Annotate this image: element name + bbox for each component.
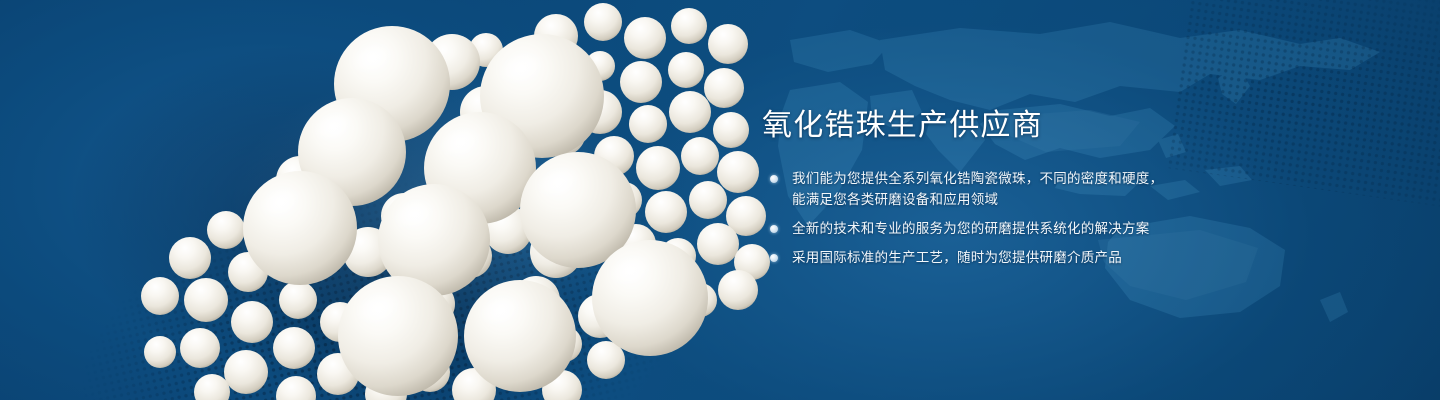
list-item: 我们能为您提供全系列氧化锆陶瓷微珠，不同的密度和硬度， 能满足您各类研磨设备和应… (764, 168, 1234, 210)
list-item-line-1: 我们能为您提供全系列氧化锆陶瓷微珠，不同的密度和硬度， (792, 168, 1234, 189)
bullet-dot-icon (770, 254, 778, 262)
list-item: 采用国际标准的生产工艺，随时为您提供研磨介质产品 (764, 247, 1234, 268)
bullet-dot-icon (770, 175, 778, 183)
bullet-dot-icon (770, 225, 778, 233)
halftone-dot-texture (34, 45, 846, 400)
feature-list: 我们能为您提供全系列氧化锆陶瓷微珠，不同的密度和硬度， 能满足您各类研磨设备和应… (764, 168, 1234, 268)
zirconia-beads-image (0, 0, 780, 400)
banner-copy: 氧化锆珠生产供应商 我们能为您提供全系列氧化锆陶瓷微珠，不同的密度和硬度， 能满… (762, 0, 1382, 400)
page-title: 氧化锆珠生产供应商 (762, 108, 1043, 143)
bead-glow (120, 10, 760, 400)
list-item-line-1: 全新的技术和专业的服务为您的研磨提供系统化的解决方案 (792, 218, 1234, 239)
list-item-line-2: 能满足您各类研磨设备和应用领域 (792, 189, 1234, 210)
hero-banner: 氧化锆珠生产供应商 我们能为您提供全系列氧化锆陶瓷微珠，不同的密度和硬度， 能满… (0, 0, 1440, 400)
list-item: 全新的技术和专业的服务为您的研磨提供系统化的解决方案 (764, 218, 1234, 239)
list-item-line-1: 采用国际标准的生产工艺，随时为您提供研磨介质产品 (792, 247, 1234, 268)
